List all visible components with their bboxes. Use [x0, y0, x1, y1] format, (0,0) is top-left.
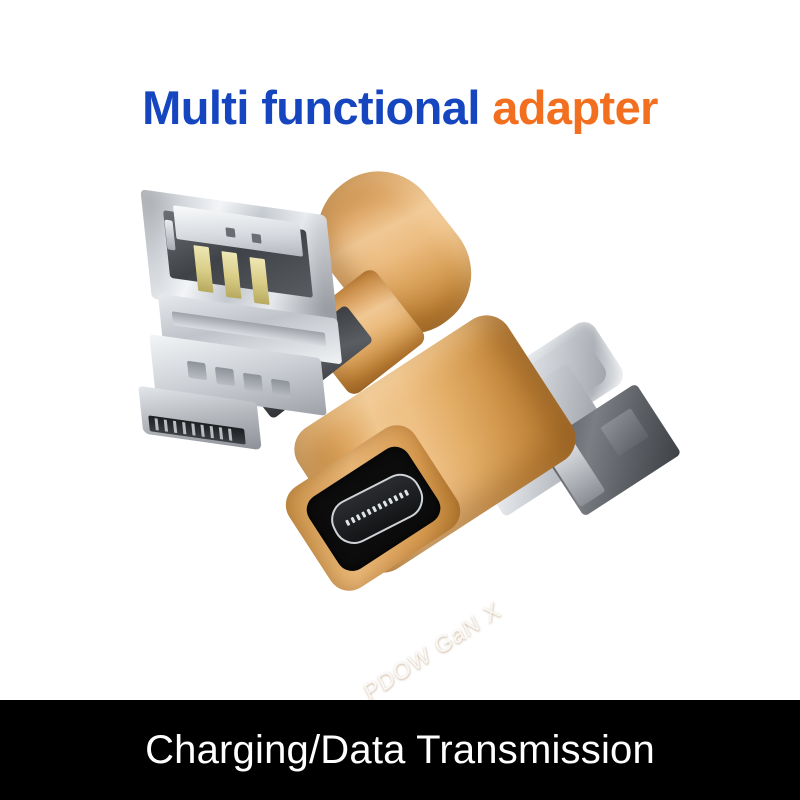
product-right-adapter: PDOW GaN X [300, 330, 720, 670]
left-micro-usb-tooth [215, 367, 235, 386]
usb-c-contact-pin [388, 498, 393, 505]
micro-usb-tine [173, 421, 177, 433]
lightning-bolt-icon [416, 574, 477, 631]
micro-usb-tine [200, 425, 204, 437]
brand-text: PDOW GaN X [359, 596, 505, 707]
micro-usb-tine [219, 427, 223, 439]
usb-c-contact-pin [377, 503, 382, 510]
banner-caption: Charging/Data Transmission [145, 728, 655, 773]
usb-c-contact-pin [382, 500, 387, 507]
micro-usb-tine [228, 428, 232, 440]
headline-primary-text: Multi functional [142, 81, 480, 134]
product-stage: PDOW GaN X [0, 150, 800, 700]
usb-c-contact-pin [399, 492, 404, 499]
micro-usb-tine [210, 426, 214, 438]
usb-c-contact-pin [356, 514, 361, 521]
headline-space [480, 81, 492, 134]
usb-c-contact-pin [393, 495, 398, 502]
micro-usb-tine [191, 423, 195, 435]
micro-usb-tine [182, 422, 186, 434]
left-usb-a-notch [225, 227, 235, 237]
usb-c-contact-pin [350, 517, 355, 524]
left-micro-usb-tooth [243, 373, 263, 392]
left-micro-usb-tooth [187, 361, 207, 380]
right-usb-a-head-face [600, 408, 649, 456]
usb-c-contact-pin [372, 506, 377, 513]
usb-c-port-slot [324, 467, 430, 552]
usb-c-contact-pin [345, 519, 350, 526]
micro-usb-tine [164, 419, 168, 431]
bottom-banner: Charging/Data Transmission [0, 700, 800, 800]
usb-c-contact-pin [366, 508, 371, 515]
page-title: Multi functional adapter [0, 83, 800, 132]
headline-accent-text: adapter [492, 81, 658, 134]
micro-usb-tine [155, 418, 159, 430]
usb-c-contact-pin [361, 511, 366, 518]
usb-c-contact-pin [404, 489, 409, 496]
left-micro-usb-tooth [271, 379, 291, 398]
left-usb-a-notch [251, 233, 261, 243]
product-marketing-image: Multi functional adapter [0, 0, 800, 800]
